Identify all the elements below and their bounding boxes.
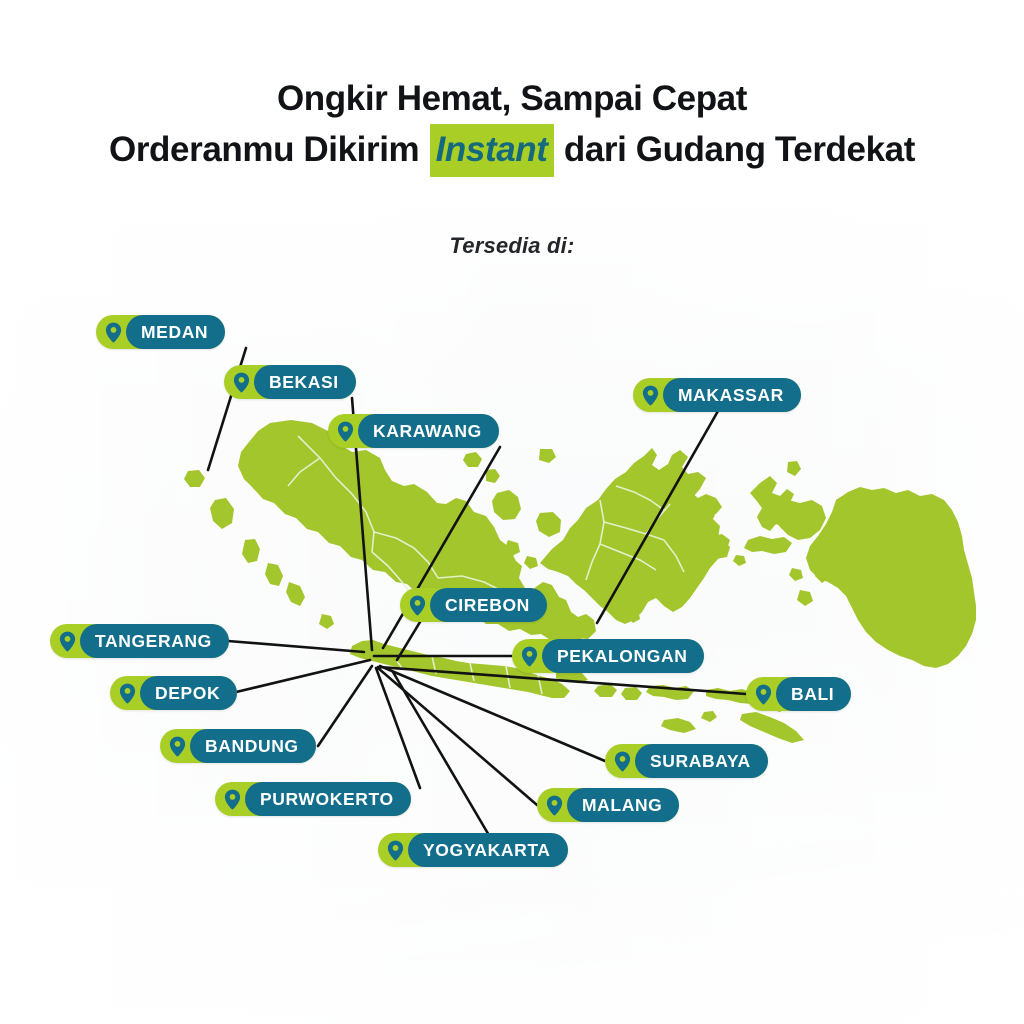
city-label-pill: MALANG <box>567 788 679 822</box>
island-simeulue <box>184 470 205 487</box>
city-label-pill: DEPOK <box>140 676 237 710</box>
city-label-text: TANGERANG <box>95 631 212 652</box>
city-label-pill: BANDUNG <box>190 729 316 763</box>
city-label-pill: MEDAN <box>126 315 225 349</box>
city-label-pill: TANGERANG <box>80 624 229 658</box>
map-pin-icon <box>110 676 144 710</box>
city-label-text: PURWOKERTO <box>260 789 394 810</box>
city-label-pill: KARAWANG <box>358 414 499 448</box>
leader-line-tangerang <box>228 641 364 652</box>
map-pin-icon <box>224 365 258 399</box>
city-label-surabaya[interactable]: SURABAYA <box>605 744 768 778</box>
island-sumba <box>661 718 696 733</box>
map-pin-icon <box>328 414 362 448</box>
indonesia-map <box>0 0 1024 1024</box>
map-pin-icon <box>605 744 639 778</box>
island-papua <box>806 487 976 668</box>
city-label-medan[interactable]: MEDAN <box>96 315 225 349</box>
island-nias <box>210 498 234 529</box>
island-mentawai-1 <box>242 539 260 563</box>
city-label-bekasi[interactable]: BEKASI <box>224 365 356 399</box>
island-timor <box>740 712 804 743</box>
city-label-text: BEKASI <box>269 372 339 393</box>
island-belitung <box>536 512 561 537</box>
city-label-text: PEKALONGAN <box>557 646 687 667</box>
city-label-cirebon[interactable]: CIREBON <box>400 588 547 622</box>
city-label-text: BANDUNG <box>205 736 299 757</box>
island-kei <box>789 568 803 581</box>
city-label-pill: BALI <box>776 677 851 711</box>
map-pin-icon <box>746 677 780 711</box>
island-mentawai-2 <box>265 563 283 586</box>
city-label-pill: BEKASI <box>254 365 356 399</box>
island-small-a <box>524 556 538 569</box>
city-label-pill: MAKASSAR <box>663 378 801 412</box>
city-label-text: YOGYAKARTA <box>423 840 551 861</box>
city-label-text: KARAWANG <box>373 421 482 442</box>
island-riau-2 <box>486 469 500 483</box>
island-morotai <box>787 461 801 476</box>
island-papua-birdhead <box>774 500 826 540</box>
leader-line-bandung <box>318 666 372 746</box>
city-label-text: CIREBON <box>445 595 530 616</box>
city-label-pill: SURABAYA <box>635 744 768 778</box>
island-nt-small <box>701 711 717 722</box>
leader-line-depok <box>232 660 370 693</box>
island-enggano <box>319 614 334 629</box>
promo-graphic: Ongkir Hemat, Sampai Cepat Orderanmu Dik… <box>0 0 1024 1024</box>
city-label-text: MAKASSAR <box>678 385 784 406</box>
island-tanimbar <box>797 590 813 606</box>
city-label-pill: CIREBON <box>430 588 547 622</box>
map-pin-icon <box>378 833 412 867</box>
city-label-text: SURABAYA <box>650 751 751 772</box>
city-label-makassar[interactable]: MAKASSAR <box>633 378 801 412</box>
city-label-yogyakarta[interactable]: YOGYAKARTA <box>378 833 568 867</box>
city-label-bali[interactable]: BALI <box>746 677 851 711</box>
city-label-tangerang[interactable]: TANGERANG <box>50 624 229 658</box>
island-natuna <box>539 449 556 463</box>
island-bali <box>594 684 617 697</box>
map-pin-icon <box>96 315 130 349</box>
map-landmass <box>184 420 976 743</box>
map-pin-icon <box>512 639 546 673</box>
city-label-pill: YOGYAKARTA <box>408 833 568 867</box>
city-label-pill: PURWOKERTO <box>245 782 411 816</box>
island-seram <box>744 536 792 554</box>
map-pin-icon <box>215 782 249 816</box>
city-label-depok[interactable]: DEPOK <box>110 676 237 710</box>
map-pin-icon <box>160 729 194 763</box>
city-label-bandung[interactable]: BANDUNG <box>160 729 316 763</box>
island-ambon <box>733 555 746 566</box>
island-bangka <box>492 490 521 520</box>
island-mentawai-3 <box>286 582 305 606</box>
map-pin-icon <box>633 378 667 412</box>
city-label-malang[interactable]: MALANG <box>537 788 679 822</box>
city-label-text: MEDAN <box>141 322 208 343</box>
island-lombok <box>621 687 642 700</box>
map-pin-icon <box>50 624 84 658</box>
map-pin-icon <box>537 788 571 822</box>
map-pin-icon <box>400 588 434 622</box>
city-label-purwokerto[interactable]: PURWOKERTO <box>215 782 411 816</box>
city-label-pekalongan[interactable]: PEKALONGAN <box>512 639 704 673</box>
city-label-text: BALI <box>791 684 834 705</box>
island-riau-1 <box>463 452 482 467</box>
city-label-text: MALANG <box>582 795 662 816</box>
city-label-karawang[interactable]: KARAWANG <box>328 414 499 448</box>
city-label-pill: PEKALONGAN <box>542 639 704 673</box>
city-label-text: DEPOK <box>155 683 220 704</box>
